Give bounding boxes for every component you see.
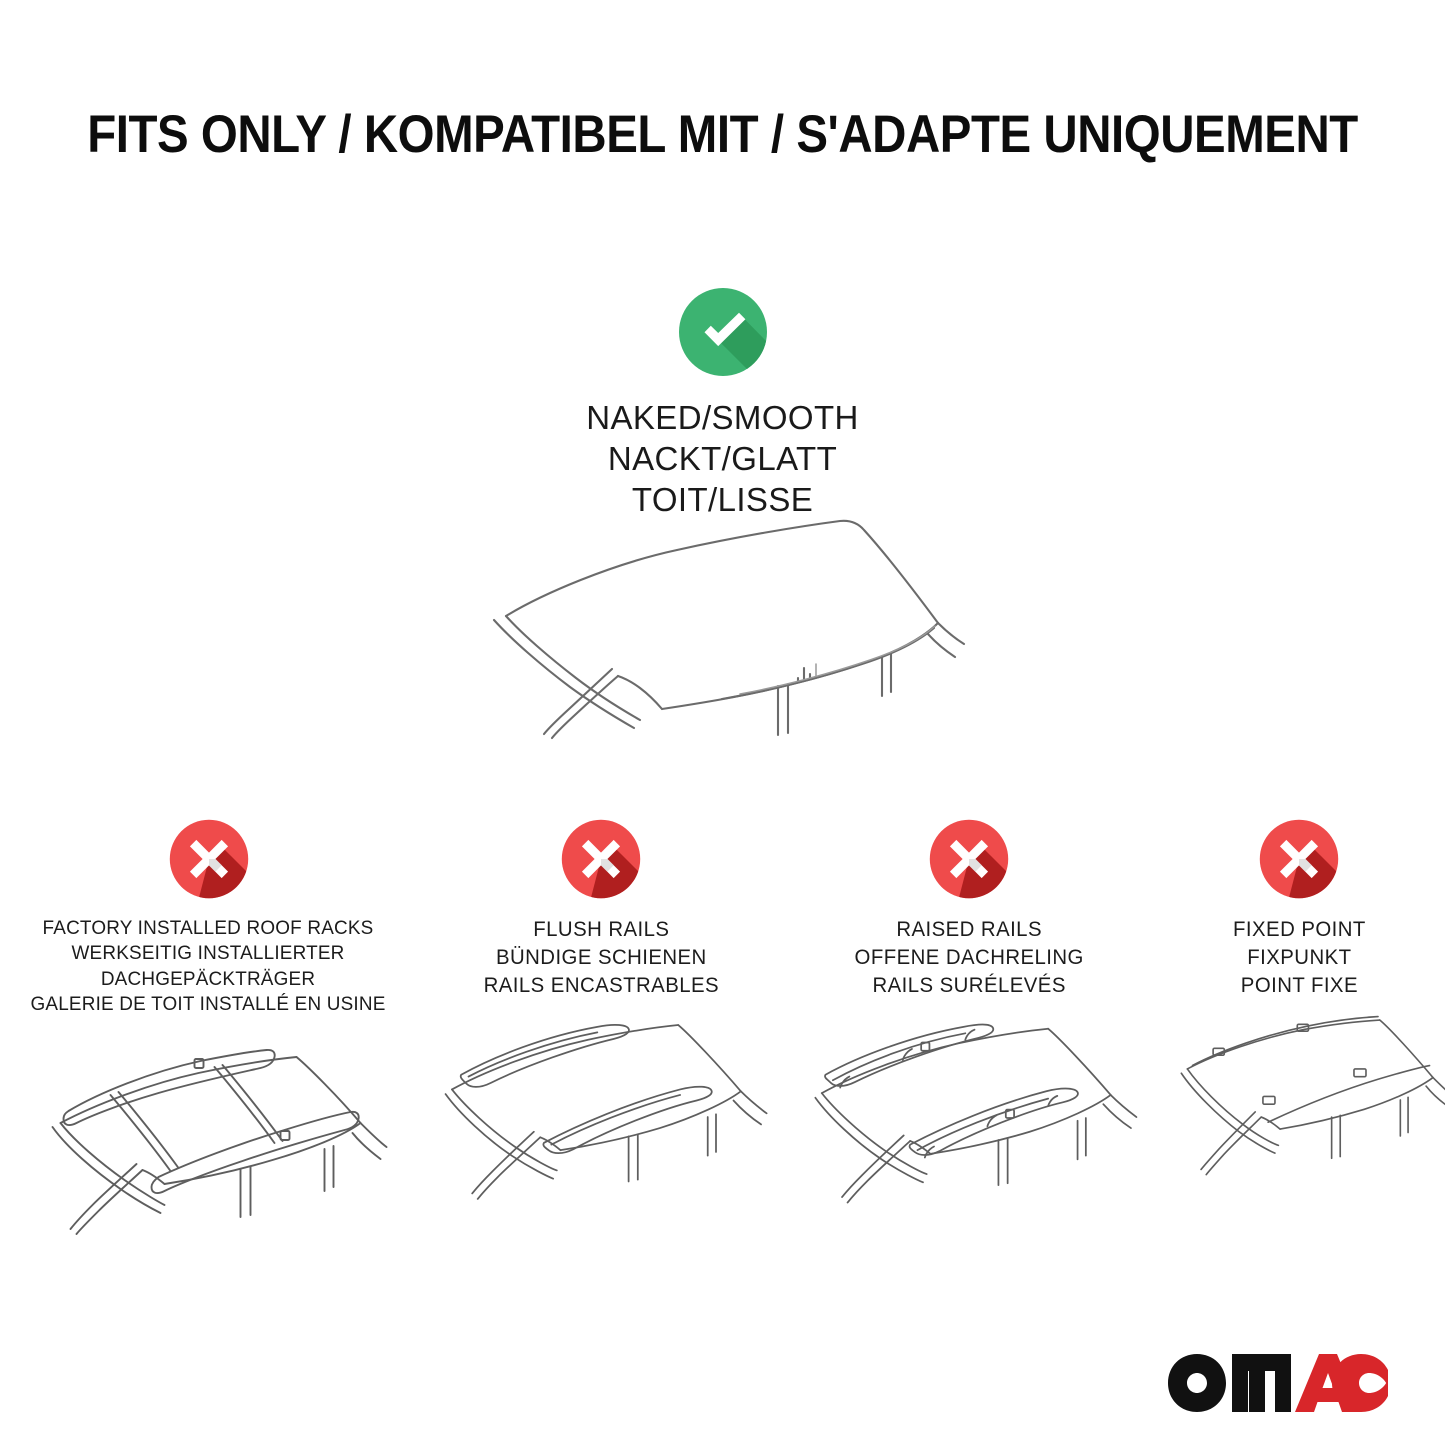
red-x-icon <box>928 818 1010 900</box>
incompatible-item-raised-rails: RAISED RAILS OFFENE DACHRELING RAILS SUR… <box>785 818 1153 1229</box>
incompatible-caption: RAISED RAILS OFFENE DACHRELING RAILS SUR… <box>854 916 1083 1000</box>
caption-line: NAKED/SMOOTH <box>586 398 859 439</box>
caption-line: GALERIE DE TOIT INSTALLÉ EN USINE <box>31 992 386 1017</box>
caption-line: FACTORY INSTALLED ROOF RACKS <box>31 916 386 941</box>
roof-illustration-naked-smooth <box>472 498 992 748</box>
page-title: FITS ONLY / KOMPATIBEL MIT / S'ADAPTE UN… <box>76 104 1369 165</box>
logo-letter-o <box>1168 1354 1226 1412</box>
omac-logo <box>1167 1353 1389 1415</box>
roof-illustration-raised-rails <box>785 1014 1153 1229</box>
red-x-icon <box>1258 818 1340 900</box>
incompatible-section: FACTORY INSTALLED ROOF RACKS WERKSEITIG … <box>0 818 1445 1246</box>
red-x-icon <box>168 818 250 900</box>
logo-letter-m <box>1232 1354 1291 1412</box>
caption-line: BÜNDIGE SCHIENEN <box>483 944 718 972</box>
caption-line: FIXED POINT <box>1233 916 1366 944</box>
roof-illustration-factory-racks <box>0 1031 417 1246</box>
incompatible-item-flush-rails: FLUSH RAILS BÜNDIGE SCHIENEN RAILS ENCAS… <box>417 818 785 1229</box>
incompatible-item-fixed-point: FIXED POINT FIXPUNKT POINT FIXE <box>1153 818 1445 1229</box>
caption-line: RAISED RAILS <box>854 916 1083 944</box>
incompatible-caption: FACTORY INSTALLED ROOF RACKS WERKSEITIG … <box>31 916 386 1017</box>
caption-line: NACKT/GLATT <box>586 439 859 480</box>
caption-line: RAILS ENCASTRABLES <box>483 972 718 1000</box>
logo-letter-c <box>1332 1354 1388 1412</box>
caption-line: RAILS SURÉLEVÉS <box>854 972 1083 1000</box>
incompatible-caption: FLUSH RAILS BÜNDIGE SCHIENEN RAILS ENCAS… <box>483 916 718 1000</box>
incompatible-item-factory-installed-roof-racks: FACTORY INSTALLED ROOF RACKS WERKSEITIG … <box>0 818 417 1246</box>
incompatible-caption: FIXED POINT FIXPUNKT POINT FIXE <box>1233 916 1366 1000</box>
red-x-icon <box>560 818 642 900</box>
roof-illustration-flush-rails <box>417 1014 785 1229</box>
caption-line: WERKSEITIG INSTALLIERTER <box>31 941 386 966</box>
caption-line: FIXPUNKT <box>1233 944 1366 972</box>
roof-illustration-fixed-point <box>1153 1014 1445 1229</box>
caption-line: OFFENE DACHRELING <box>854 944 1083 972</box>
compatible-section: NAKED/SMOOTH NACKT/GLATT TOIT/LISSE <box>0 286 1445 521</box>
green-check-icon <box>677 286 769 378</box>
infographic-page: FITS ONLY / KOMPATIBEL MIT / S'ADAPTE UN… <box>0 0 1445 1445</box>
caption-line: POINT FIXE <box>1233 972 1366 1000</box>
caption-line: FLUSH RAILS <box>483 916 718 944</box>
caption-line: DACHGEPÄCKTRÄGER <box>31 967 386 992</box>
